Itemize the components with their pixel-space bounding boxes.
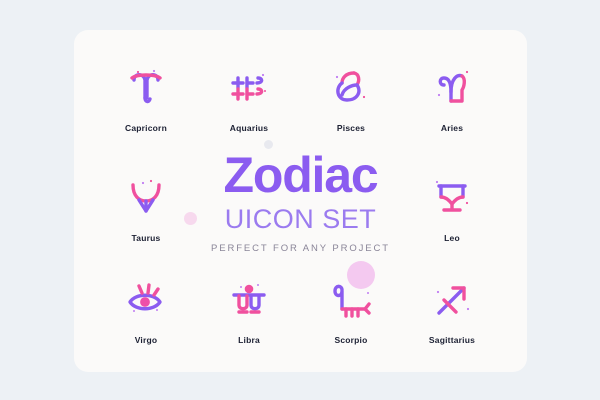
aries-icon — [404, 62, 500, 114]
icon-label: Capricorn — [98, 123, 194, 133]
icon-label: Aquarius — [201, 123, 297, 133]
poster-canvas: Capricorn Aquarius Pis — [0, 0, 600, 400]
icon-cell-capricorn[interactable]: Capricorn — [98, 62, 194, 133]
page-title: Zodiac — [74, 150, 527, 200]
icon-cell-aries[interactable]: Aries — [404, 62, 500, 133]
icon-label: Pisces — [303, 123, 399, 133]
brand-tagline: PERFECT FOR ANY PROJECT — [74, 243, 527, 254]
sagittarius-icon — [404, 274, 500, 326]
icon-label: Libra — [201, 335, 297, 345]
icon-cell-sagittarius[interactable]: Sagittarius — [404, 274, 500, 345]
icon-cell-scorpio[interactable]: Scorpio — [303, 274, 399, 345]
brand-title-block: Zodiac UICON SET PERFECT FOR ANY PROJECT — [74, 150, 527, 254]
icon-cell-pisces[interactable]: Pisces — [303, 62, 399, 133]
icon-cell-aquarius[interactable]: Aquarius — [201, 62, 297, 133]
capricorn-icon — [98, 62, 194, 114]
icon-cell-virgo[interactable]: Virgo — [98, 274, 194, 345]
virgo-icon — [98, 274, 194, 326]
icon-label: Aries — [404, 123, 500, 133]
pisces-icon — [303, 62, 399, 114]
aquarius-icon — [201, 62, 297, 114]
icon-label: Scorpio — [303, 335, 399, 345]
icon-label: Sagittarius — [404, 335, 500, 345]
icon-label: Virgo — [98, 335, 194, 345]
scorpio-icon — [303, 274, 399, 326]
icon-cell-libra[interactable]: Libra — [201, 274, 297, 345]
libra-icon — [201, 274, 297, 326]
brand-subtitle: UICON SET — [74, 206, 527, 233]
